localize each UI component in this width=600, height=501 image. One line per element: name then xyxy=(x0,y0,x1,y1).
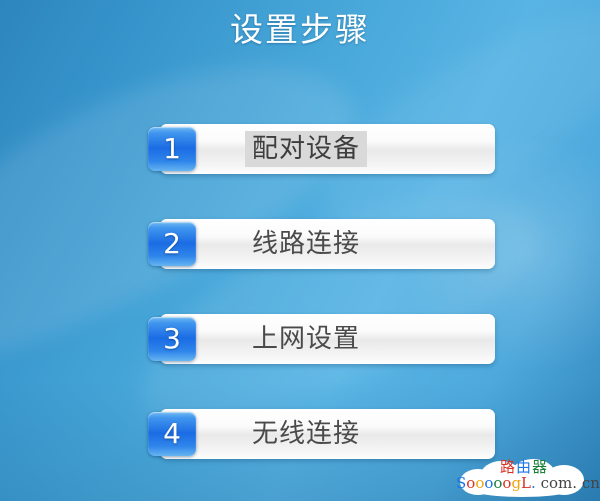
step-label[interactable]: 无线连接 xyxy=(245,416,367,452)
step-label[interactable]: 配对设备 xyxy=(245,131,367,167)
setup-steps-screen: 设置步骤 1配对设备2线路连接3上网设置4无线连接 路由器 SooooogL. … xyxy=(0,0,600,501)
step-number-badge: 1 xyxy=(148,127,196,171)
page-title: 设置步骤 xyxy=(0,9,600,51)
step-row[interactable]: 1配对设备 xyxy=(0,124,600,174)
step-row[interactable]: 2线路连接 xyxy=(0,219,600,269)
step-row[interactable]: 3上网设置 xyxy=(0,314,600,364)
step-number-badge: 2 xyxy=(148,222,196,266)
step-label[interactable]: 线路连接 xyxy=(245,226,367,262)
steps-list: 1配对设备2线路连接3上网设置4无线连接 xyxy=(0,124,600,501)
step-number-badge: 4 xyxy=(148,412,196,456)
step-label[interactable]: 上网设置 xyxy=(245,321,367,357)
watermark: 路由器 SooooogL. com. cn xyxy=(452,457,592,499)
step-number-badge: 3 xyxy=(148,317,196,361)
watermark-url-text: SooooogL. com. cn xyxy=(456,475,600,492)
step-row[interactable]: 4无线连接 xyxy=(0,409,600,459)
